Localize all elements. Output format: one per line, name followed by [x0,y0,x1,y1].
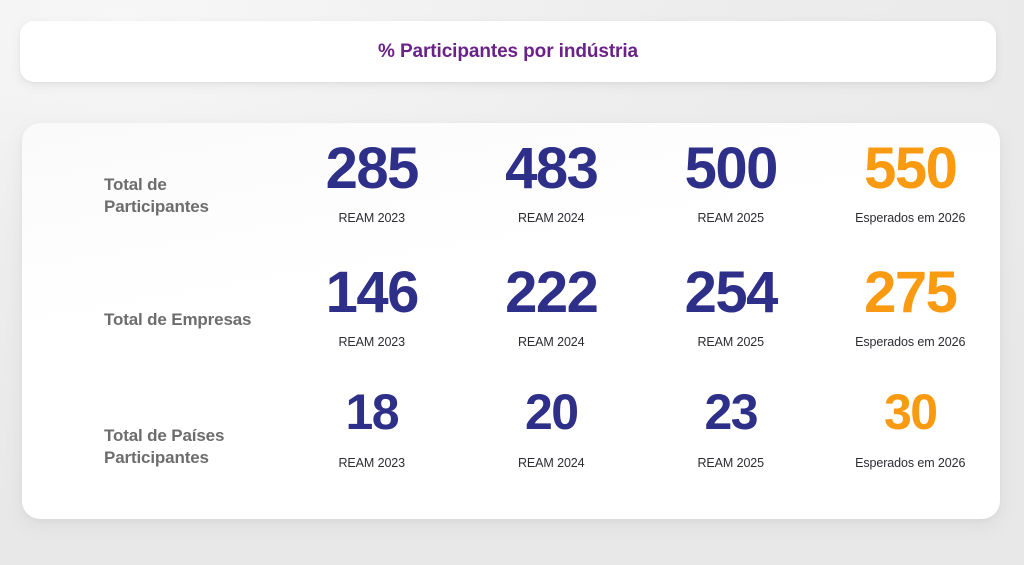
stat-caption: REAM 2024 [518,211,585,225]
statistics-card: Total de Participantes 285 REAM 2023 483… [22,123,1000,519]
stat-value-projected: 30 [884,387,937,438]
row-values: 146 REAM 2023 222 REAM 2024 254 REAM 202… [282,263,1000,349]
stat-cell: 550 Esperados em 2026 [821,139,1001,225]
stat-cell: 20 REAM 2024 [462,387,642,470]
stat-cell: 30 Esperados em 2026 [821,387,1001,470]
stat-cell: 222 REAM 2024 [462,263,642,349]
stat-value: 254 [685,263,777,322]
stat-cell: 275 Esperados em 2026 [821,263,1001,349]
stat-caption: REAM 2024 [518,456,585,470]
row-label-companies: Total de Empresas [22,309,282,331]
chart-title-card: % Participantes por indústria [20,21,996,82]
row-label-countries: Total de Países Participantes [22,425,282,470]
stat-caption: REAM 2025 [698,335,765,349]
stat-value-projected: 550 [864,139,956,198]
stat-value: 23 [704,387,757,438]
stat-caption: REAM 2024 [518,335,585,349]
table-row: Total de Participantes 285 REAM 2023 483… [22,139,1000,259]
stat-caption: Esperados em 2026 [855,211,965,225]
row-label-participants: Total de Participantes [22,174,282,219]
page-title: % Participantes por indústria [378,41,638,63]
stat-caption: REAM 2025 [698,211,765,225]
stat-cell: 285 REAM 2023 [282,139,462,225]
stat-value: 20 [525,387,578,438]
stat-caption: REAM 2023 [339,335,406,349]
stat-caption: REAM 2023 [339,211,406,225]
row-values: 18 REAM 2023 20 REAM 2024 23 REAM 2025 3… [282,387,1000,470]
stat-cell: 23 REAM 2025 [641,387,821,470]
stat-cell: 146 REAM 2023 [282,263,462,349]
stat-cell: 254 REAM 2025 [641,263,821,349]
stat-caption: Esperados em 2026 [855,335,965,349]
stat-cell: 18 REAM 2023 [282,387,462,470]
stat-cell: 500 REAM 2025 [641,139,821,225]
stat-value: 483 [505,139,597,198]
stat-value: 500 [685,139,777,198]
stat-value: 146 [326,263,418,322]
stat-caption: REAM 2025 [698,456,765,470]
stat-value-projected: 275 [864,263,956,322]
row-values: 285 REAM 2023 483 REAM 2024 500 REAM 202… [282,139,1000,225]
table-row: Total de Empresas 146 REAM 2023 222 REAM… [22,263,1000,383]
stat-cell: 483 REAM 2024 [462,139,642,225]
stat-value: 285 [326,139,418,198]
stat-value: 222 [505,263,597,322]
stat-caption: Esperados em 2026 [855,456,965,470]
stat-value: 18 [345,387,398,438]
stat-caption: REAM 2023 [339,456,406,470]
table-row: Total de Países Participantes 18 REAM 20… [22,387,1000,507]
